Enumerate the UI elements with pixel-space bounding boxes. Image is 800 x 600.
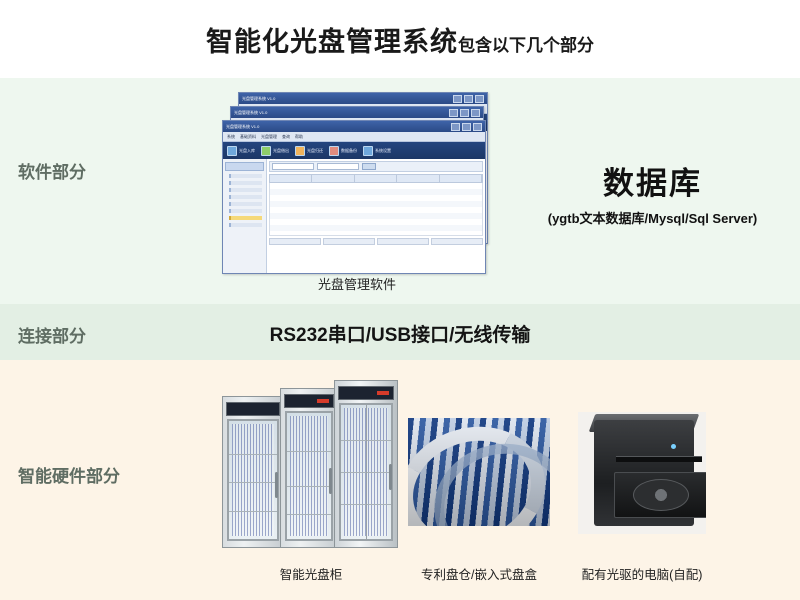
window-titlebar: 光盘管理系统 V1.0 (231, 107, 483, 118)
disc-out-icon (261, 146, 271, 156)
pc-caption: 配有光驱的电脑(自配) (560, 564, 724, 583)
toolbar-label-2: 光盘归还 (307, 148, 323, 154)
close-icon (471, 109, 480, 117)
menu-item-1: 基础资料 (240, 134, 256, 140)
cabinet-glass-door (285, 411, 333, 541)
cabinet-caption: 智能光盘柜 (218, 564, 404, 583)
search-input (272, 163, 314, 170)
toolbar-item-1: 光盘借出 (261, 146, 289, 156)
close-icon (473, 123, 482, 131)
window-toolbar: 光盘入库 光盘借出 光盘归还 数据备份 系统设置 (223, 142, 485, 159)
toolbar-label-4: 系统设置 (375, 148, 391, 154)
disc-cabinet-photo (218, 378, 404, 548)
sidebar-item-0 (229, 174, 262, 178)
sidebar-item-7 (229, 223, 262, 227)
sidebar-item-6-selected (229, 216, 262, 220)
cabinet-handle (329, 468, 332, 494)
power-led-icon (671, 444, 676, 449)
toolbar-item-3: 数据备份 (329, 146, 357, 156)
maximize-icon (460, 109, 469, 117)
toolbar-label-3: 数据备份 (341, 148, 357, 154)
menu-item-4: 帮助 (295, 134, 303, 140)
cabinet-right (334, 380, 398, 548)
page-title-bar: 智能化光盘管理系统包含以下几个部分 (0, 0, 800, 78)
filter-input (317, 163, 359, 170)
maximize-icon (464, 95, 473, 103)
window-menubar: 系统 基础资料 光盘管理 查询 帮助 (223, 132, 485, 142)
toolbar-item-2: 光盘归还 (295, 146, 323, 156)
database-block: 数据库 (ygtb文本数据库/Mysql/Sql Server) (510, 158, 795, 227)
search-button (362, 163, 376, 170)
toolbar-label-1: 光盘借出 (273, 148, 289, 154)
window-title-text: 光盘管理系统 V1.0 (226, 124, 449, 130)
backup-icon (329, 146, 339, 156)
disc-icon (633, 479, 689, 511)
disc-return-icon (295, 146, 305, 156)
cabinet-handle (389, 464, 392, 490)
disc-bin-photo (408, 418, 550, 526)
minimize-icon (453, 95, 462, 103)
cabinet-door-split (366, 403, 367, 541)
database-title: 数据库 (510, 158, 795, 203)
software-band-label: 软件部分 (18, 158, 86, 183)
cabinet-middle (280, 388, 338, 548)
pc-with-optical-drive-photo (578, 412, 706, 534)
page-title-main: 智能化光盘管理系统 (206, 27, 458, 57)
disc-in-icon (227, 146, 237, 156)
minimize-icon (451, 123, 460, 131)
grid-rows (269, 183, 483, 236)
pc-case (594, 420, 694, 526)
window-content (267, 159, 485, 274)
grid-header (269, 174, 483, 183)
sidebar-item-3 (229, 195, 262, 199)
menu-item-3: 查询 (282, 134, 290, 140)
window-titlebar: 光盘管理系统 V1.0 (239, 93, 487, 104)
minimize-icon (449, 109, 458, 117)
toolbar-item-4: 系统设置 (363, 146, 391, 156)
toolbar-item-0: 光盘入库 (227, 146, 255, 156)
cabinet-display-panel (338, 386, 394, 400)
drive-slot (616, 456, 702, 462)
database-subtitle: (ygtb文本数据库/Mysql/Sql Server) (510, 208, 795, 227)
window-titlebar: 光盘管理系统 V1.0 (223, 121, 485, 132)
sidebar-header (225, 162, 264, 171)
maximize-icon (462, 123, 471, 131)
search-bar (269, 161, 483, 172)
disc-stack (290, 416, 328, 536)
hardware-band-label: 智能硬件部分 (18, 462, 120, 487)
window-title-text: 光盘管理系统 V1.0 (242, 96, 451, 102)
software-screenshot-stack: 光盘管理系统 V1.0 系统 基础资料 光盘管理 查询 光盘入库 光盘借出 光盘… (222, 92, 492, 272)
cabinet-display-panel (284, 394, 334, 408)
close-icon (475, 95, 484, 103)
toolbar-label-0: 光盘入库 (239, 148, 255, 154)
sidebar-item-4 (229, 202, 262, 206)
menu-item-0: 系统 (227, 134, 235, 140)
software-window-front: 光盘管理系统 V1.0 系统 基础资料 光盘管理 查询 帮助 光盘入库 光盘借出… (222, 120, 486, 274)
disc-stack (232, 424, 274, 536)
window-sidebar (223, 159, 267, 274)
sidebar-item-2 (229, 188, 262, 192)
diagram-page: 智能化光盘管理系统包含以下几个部分 软件部分 连接部分 智能硬件部分 光盘管理系… (0, 0, 800, 600)
settings-icon (363, 146, 373, 156)
cabinet-display-panel (226, 402, 280, 416)
page-title-sub: 包含以下几个部分 (458, 36, 594, 55)
cabinet-handle (275, 472, 278, 498)
cabinet-glass-door (227, 419, 279, 541)
disc-bin-shading (408, 418, 550, 526)
cabinet-left (222, 396, 284, 548)
page-title: 智能化光盘管理系统包含以下几个部分 (206, 20, 594, 59)
optical-drive-tray (614, 472, 706, 518)
connection-text: RS232串口/USB接口/无线传输 (0, 320, 800, 347)
window-body (223, 159, 485, 274)
sidebar-item-5 (229, 209, 262, 213)
sidebar-item-1 (229, 181, 262, 185)
disc-bin-caption: 专利盘仓/嵌入式盘盒 (400, 564, 558, 583)
software-caption: 光盘管理软件 (222, 274, 492, 293)
window-title-text: 光盘管理系统 V1.0 (234, 110, 447, 116)
menu-item-2: 光盘管理 (261, 134, 277, 140)
grid-footer-buttons (269, 238, 483, 245)
